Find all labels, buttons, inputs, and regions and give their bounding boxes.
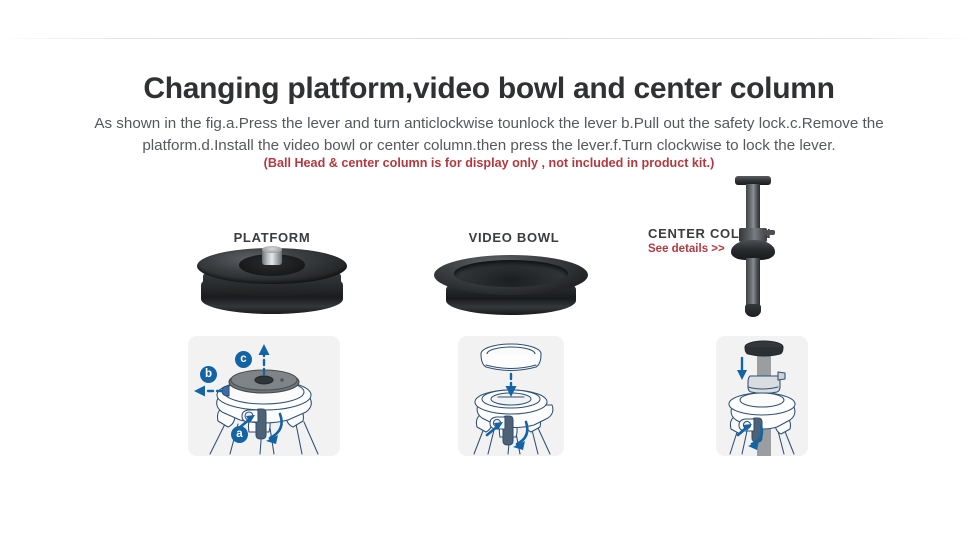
center-column-cone-base (731, 240, 775, 260)
marker-b: b (200, 366, 217, 383)
leg-right-inner (296, 424, 302, 454)
tripod-head-diagram-center-column (716, 336, 808, 456)
head-column-seat (740, 393, 784, 407)
top-divider (0, 38, 978, 39)
leg-right-outer (304, 422, 318, 454)
column-label-video-bowl: VIDEO BOWL (450, 230, 578, 245)
leg-right-inner (532, 430, 538, 454)
product-image-platform (193, 248, 351, 318)
center-column-collar-wing (764, 230, 775, 235)
marker-c: c (235, 351, 252, 368)
column-lock-collar (748, 376, 780, 394)
platform-detail-dot (280, 378, 283, 381)
instructions-paragraph: As shown in the fig.a.Press the lever an… (60, 113, 918, 157)
diagram-panel-video-bowl (458, 336, 564, 456)
diagram-panel-center-column (716, 336, 808, 456)
tripod-head-diagram-platform (188, 336, 340, 456)
product-image-center-column (726, 176, 780, 318)
platform-screw-top (262, 246, 282, 253)
column-label-platform: PLATFORM (208, 230, 336, 245)
tripod-head-diagram-video-bowl (458, 336, 564, 456)
center-column-upper-tube (746, 184, 760, 232)
column-top-knob-side (745, 347, 783, 356)
product-image-video-bowl (432, 255, 590, 317)
page-title: Changing platform,video bowl and center … (0, 72, 978, 106)
leg-left-outer (210, 422, 226, 454)
arrow-head-down (737, 370, 747, 380)
center-column-lower-tube (746, 258, 760, 308)
disclaimer-note: (Ball Head & center column is for displa… (0, 156, 978, 170)
see-details-link[interactable]: See details >> (648, 243, 725, 255)
leg-right-outer (784, 429, 794, 454)
arrow-head-left (194, 386, 205, 397)
diagram-panel-platform: c b a (188, 336, 340, 456)
leg-left-inner (742, 431, 747, 454)
leg-left-outer (474, 428, 484, 454)
center-column-foot (745, 304, 761, 317)
leg-right-outer (538, 428, 550, 454)
video-bowl-opening (454, 260, 568, 287)
arrow-head-up (259, 344, 270, 355)
column-collar-wing (778, 372, 785, 380)
marker-a: a (231, 426, 248, 443)
platform-center-hole (255, 376, 273, 384)
